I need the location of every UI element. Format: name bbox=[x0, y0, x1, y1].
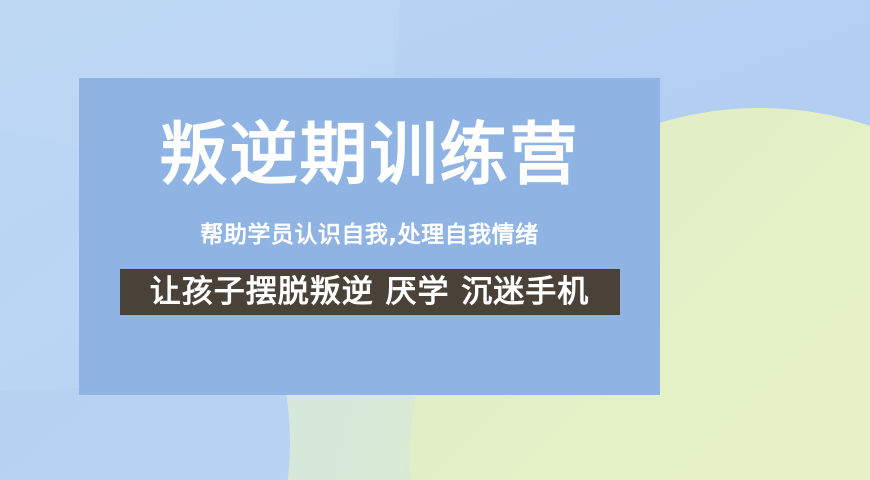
content-panel: 叛逆期训练营 帮助学员认识自我,处理自我情绪 让孩子摆脱叛逆 厌学 沉迷手机 bbox=[79, 78, 660, 395]
promo-poster: 叛逆期训练营 帮助学员认识自我,处理自我情绪 让孩子摆脱叛逆 厌学 沉迷手机 bbox=[0, 0, 870, 480]
content-panel-inner: 叛逆期训练营 帮助学员认识自我,处理自我情绪 让孩子摆脱叛逆 厌学 沉迷手机 bbox=[79, 78, 660, 395]
poster-subheadline: 帮助学员认识自我,处理自我情绪 bbox=[200, 224, 538, 247]
tagline-banner: 让孩子摆脱叛逆 厌学 沉迷手机 bbox=[120, 269, 620, 315]
poster-headline: 叛逆期训练营 bbox=[159, 122, 579, 190]
tagline-text: 让孩子摆脱叛逆 厌学 沉迷手机 bbox=[150, 277, 590, 308]
